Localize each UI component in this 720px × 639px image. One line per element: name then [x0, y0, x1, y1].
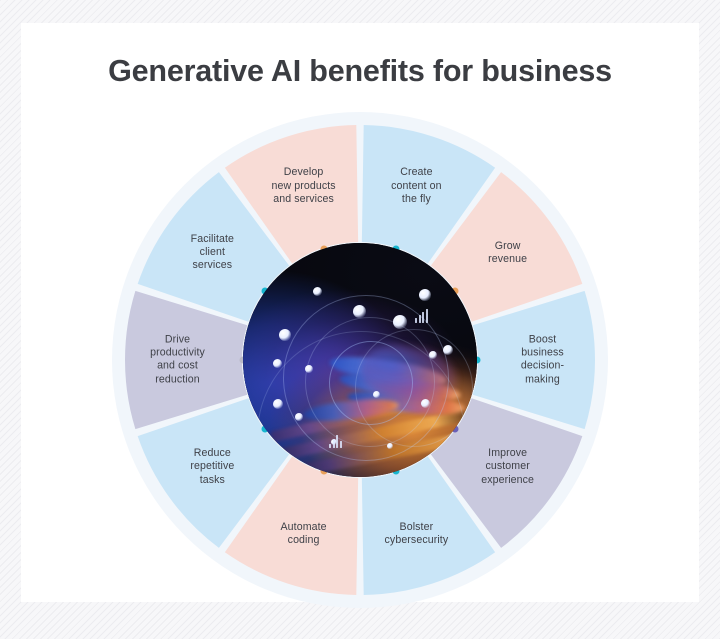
hud-node — [353, 305, 366, 318]
center-photo-hands-typing-keyboard — [243, 243, 477, 477]
page-title: Generative AI benefits for business — [22, 54, 698, 89]
hud-node — [373, 391, 380, 398]
infographic-card: Generative AI benefits for business Crea… — [22, 24, 698, 601]
hud-node — [443, 345, 453, 355]
hud-node — [295, 413, 303, 421]
data-bars-glyph — [329, 435, 342, 448]
page-background: Generative AI benefits for business Crea… — [0, 0, 720, 639]
hud-node — [279, 329, 291, 341]
hud-node — [273, 359, 282, 368]
data-bars-glyph — [415, 309, 428, 323]
benefits-wheel: Create content on the flyGrow revenueBoo… — [110, 110, 610, 610]
hud-node — [387, 443, 393, 449]
hud-node — [273, 399, 283, 409]
hud-node — [419, 289, 431, 301]
hud-node — [429, 351, 437, 359]
hud-node — [421, 399, 430, 408]
hud-node — [393, 315, 407, 329]
hud-node — [305, 365, 313, 373]
hud-node — [313, 287, 322, 296]
